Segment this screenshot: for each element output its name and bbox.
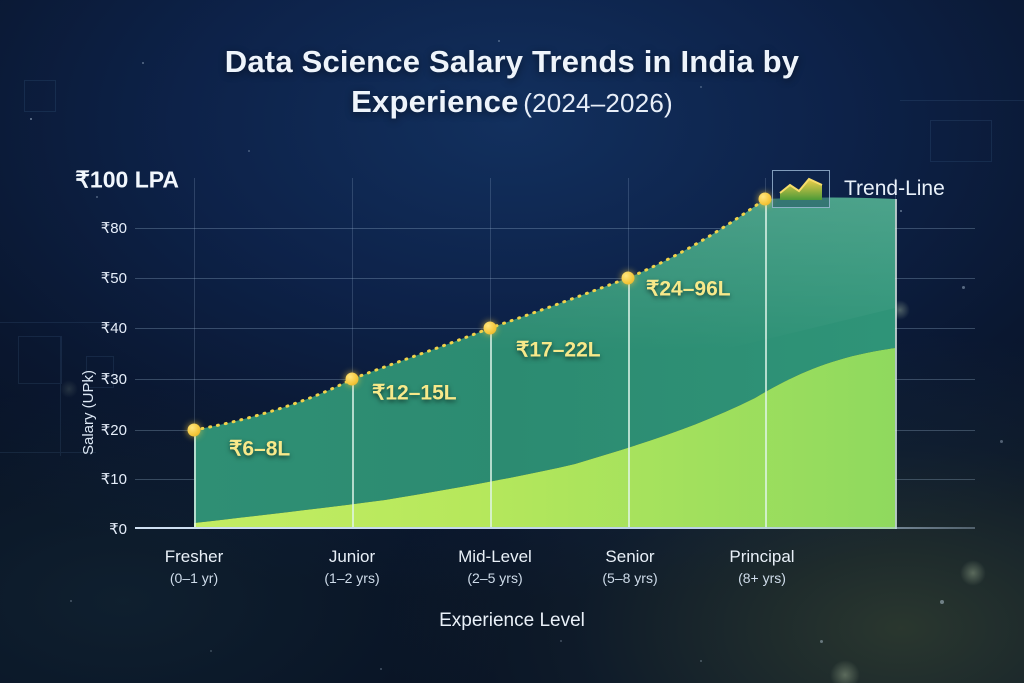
y-tick-30: ₹30 (101, 370, 127, 388)
data-point-fresher[interactable] (188, 424, 201, 437)
chart-title: Data Science Salary Trends in India by E… (0, 42, 1024, 123)
x-category-mid-level-name: Mid-Level (422, 547, 568, 567)
y-tick-50: ₹50 (101, 269, 127, 287)
area-chart-icon (778, 176, 824, 202)
segment-divider-3 (490, 328, 492, 529)
legend-swatch (772, 170, 830, 208)
x-category-principal-name: Principal (692, 547, 832, 567)
x-category-principal-range: (8+ yrs) (692, 570, 832, 586)
x-category-junior: Junior (1–2 yrs) (282, 547, 422, 586)
y-axis-title: Salary (UPk) (80, 370, 97, 455)
y-tick-0: ₹0 (109, 520, 127, 538)
data-label-senior: ₹24–96L (646, 277, 731, 302)
x-category-senior-range: (5–8 yrs) (560, 570, 700, 586)
data-label-junior: ₹12–15L (372, 381, 457, 406)
y-tick-40: ₹40 (101, 319, 127, 337)
data-point-senior[interactable] (622, 272, 635, 285)
x-category-fresher-name: Fresher (124, 547, 264, 567)
x-category-fresher: Fresher (0–1 yr) (124, 547, 264, 586)
x-category-mid-level-range: (2–5 yrs) (422, 570, 568, 586)
y-tick-10: ₹10 (101, 470, 127, 488)
x-category-fresher-range: (0–1 yr) (124, 570, 264, 586)
data-label-fresher: ₹6–8L (229, 437, 290, 462)
x-category-senior-name: Senior (560, 547, 700, 567)
x-axis-line (135, 527, 975, 529)
legend[interactable]: Trend-Line (772, 170, 945, 208)
data-point-mid-level[interactable] (484, 322, 497, 335)
segment-divider-6 (895, 199, 897, 529)
segment-divider-4 (628, 278, 630, 529)
data-point-principal[interactable] (759, 193, 772, 206)
x-category-principal: Principal (8+ yrs) (692, 547, 832, 586)
x-axis-title: Experience Level (0, 610, 1024, 632)
title-line-2-main: Experience (351, 84, 518, 119)
data-point-junior[interactable] (346, 373, 359, 386)
segment-divider-1 (194, 430, 196, 529)
y-tick-80: ₹80 (101, 219, 127, 237)
x-category-mid-level: Mid-Level (2–5 yrs) (422, 547, 568, 586)
title-line-1: Data Science Salary Trends in India by (0, 42, 1024, 82)
legend-label: Trend-Line (844, 177, 945, 201)
x-category-junior-name: Junior (282, 547, 422, 567)
title-year-range: (2024–2026) (523, 88, 673, 118)
segment-divider-2 (352, 379, 354, 529)
segment-divider-5 (765, 199, 767, 529)
chart-canvas: Data Science Salary Trends in India by E… (0, 0, 1024, 683)
title-line-2: Experience (2024–2026) (0, 82, 1024, 122)
data-label-mid-level: ₹17–22L (516, 338, 601, 363)
x-category-senior: Senior (5–8 yrs) (560, 547, 700, 586)
x-category-junior-range: (1–2 yrs) (282, 570, 422, 586)
plot-area: ₹6–8L ₹12–15L ₹17–22L ₹24–96L (135, 178, 975, 529)
y-tick-20: ₹20 (101, 421, 127, 439)
